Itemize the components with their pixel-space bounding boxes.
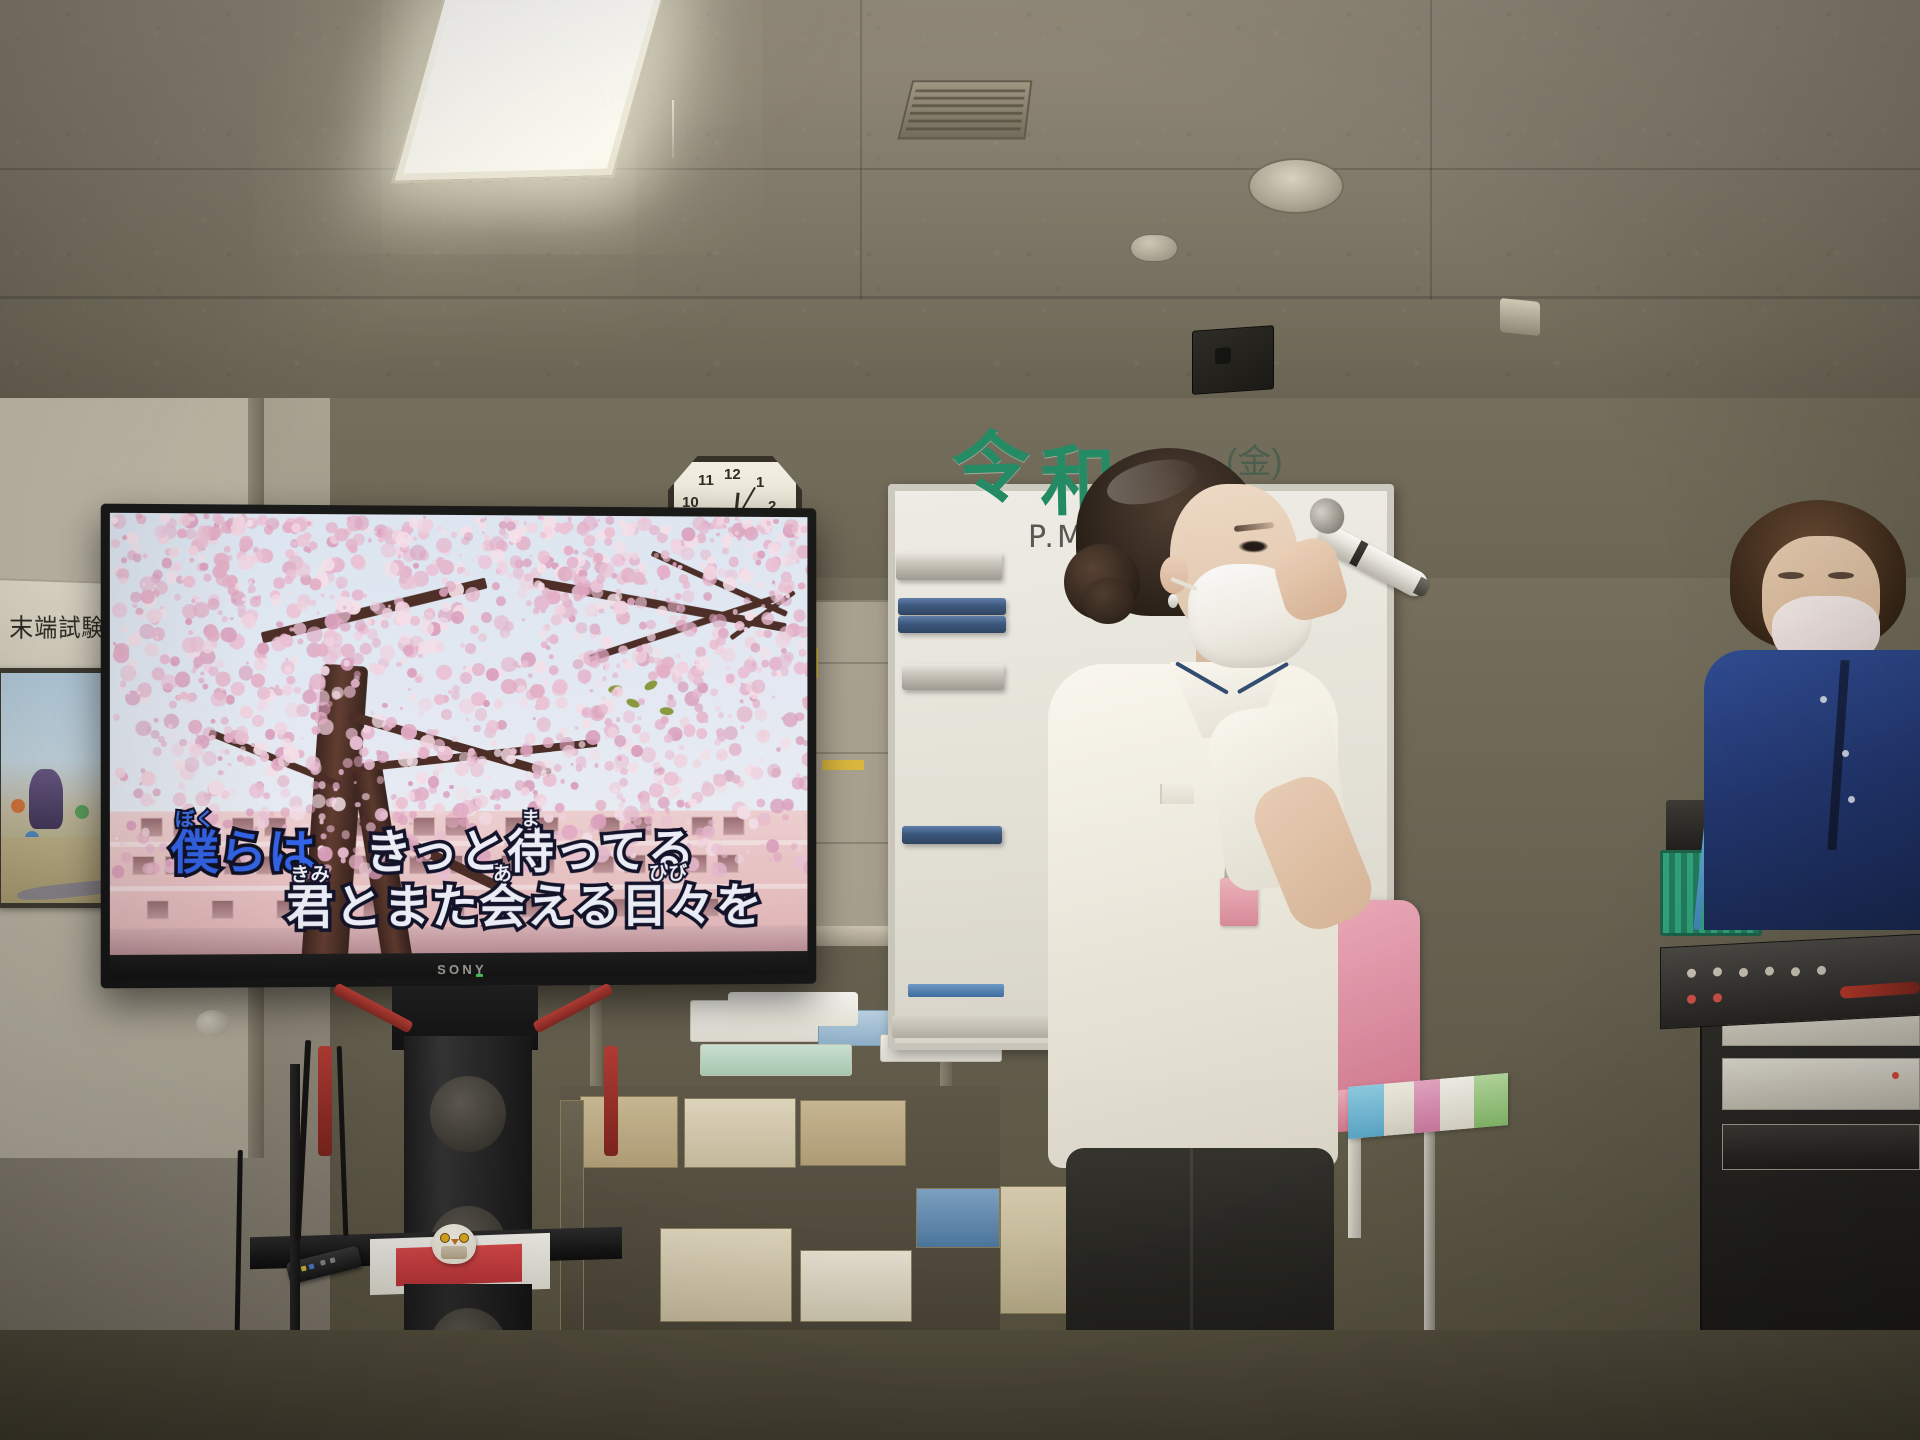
ceiling-vent-icon [897,80,1032,139]
staff-eye [1828,572,1854,579]
microphone-ring [1349,540,1368,567]
cardboard-box [800,1250,912,1322]
whiteboard-eraser[interactable] [898,616,1006,633]
whiteboard-eraser[interactable] [898,598,1006,615]
shirt-pocket [1160,784,1194,804]
whiteboard-eraser[interactable] [902,664,1004,690]
picture-figure [29,769,63,829]
lace-cloth [728,992,858,1026]
shelf-post [560,1100,584,1342]
ceiling-speaker-icon [1248,158,1344,214]
cardboard-box [660,1228,792,1322]
staff-eye [1778,572,1804,579]
hanging-string [672,100,674,158]
earring [1168,594,1178,608]
ceiling-texture [0,0,1920,430]
staff-shirt [1704,650,1920,930]
tv-stand-arm [318,1046,332,1156]
ceiling-seam [860,0,862,300]
singer-person: ✕ [1020,448,1380,1440]
staff-person [1700,500,1920,920]
green-tray [700,1044,852,1076]
singer-eye [1238,540,1268,553]
ceiling-seam [1430,0,1432,300]
smoke-detector-icon [1130,234,1178,262]
audio-mixer[interactable] [1660,933,1920,1030]
whiteboard-eraser[interactable] [896,552,1002,580]
ceiling-seam [0,168,1920,170]
chair-leg [1424,1120,1435,1360]
ceiling-sensor-icon [1500,298,1540,336]
clock-number: 12 [724,466,741,483]
floor [0,1330,1920,1440]
cabinet-tape [822,760,864,770]
cardboard-box [684,1098,796,1168]
photo-scene: 末端試験装置 令 和 [0,0,1920,1440]
ceiling-seam [0,296,1920,299]
owl-figurine [432,1224,476,1264]
clock-number: 11 [698,472,714,489]
tv-bezel [101,504,817,989]
blue-box [916,1188,1000,1248]
ceiling [0,0,1920,430]
tv-stand-arm [604,1046,618,1156]
rack-unit[interactable] [1722,1124,1920,1170]
light-diffuser [403,0,654,174]
clock-number: 1 [756,474,764,491]
television[interactable]: ぼく 僕 らは きっと ま 待 ってる きみ 君 と [101,504,817,989]
whiteboard-tape [908,984,1004,997]
door-knob[interactable] [196,1010,230,1036]
hair-bun [1082,578,1134,624]
singer-ear [1160,556,1188,594]
rack-unit[interactable] [1722,1058,1920,1110]
cardboard-box [580,1096,678,1168]
cardboard-box [800,1100,906,1166]
wall-speaker-icon [1192,325,1274,395]
whiteboard-eraser[interactable] [902,826,1002,844]
hanging-string [607,60,609,160]
stand-cutout [430,1076,506,1152]
